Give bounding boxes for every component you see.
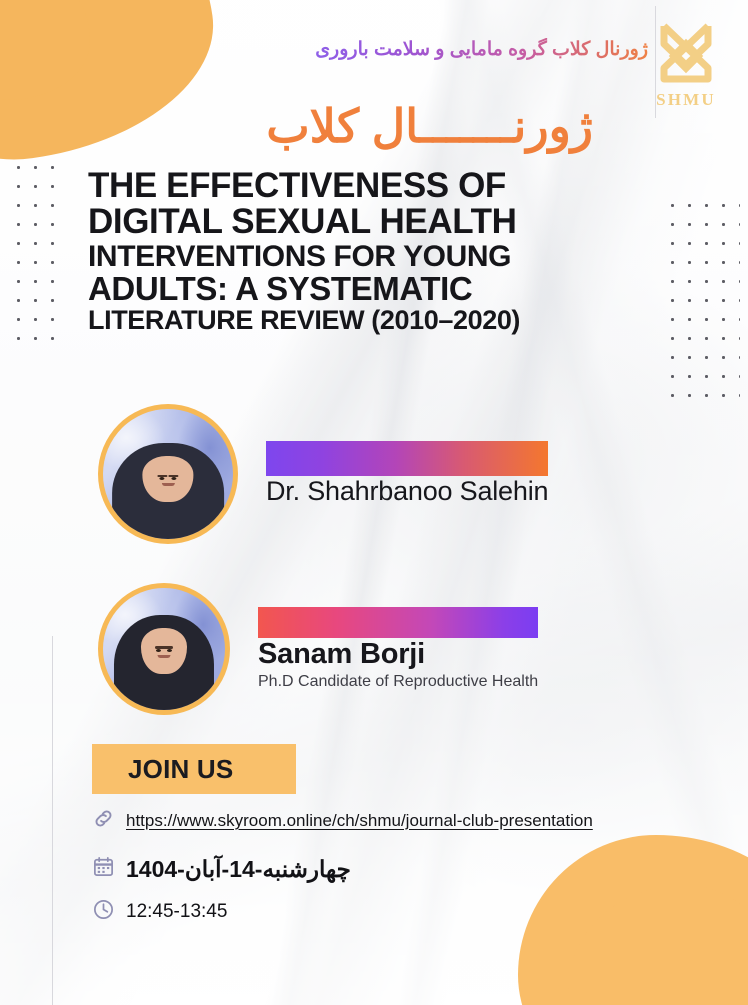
supervisor-avatar	[98, 404, 238, 544]
presenter-text: PRESENTER Sanam Borji Ph.D Candidate of …	[258, 607, 538, 692]
presenter-role-label: PRESENTER	[258, 607, 538, 639]
calendar-icon	[92, 855, 115, 883]
title-line-1: THE EFFECTIVENESS OF	[88, 168, 628, 204]
title-line-4: ADULTS: A SYSTEMATIC	[88, 272, 628, 306]
event-date-row: چهارشنبه-14-آبان-1404	[92, 855, 351, 883]
left-divider	[52, 636, 53, 1005]
title-line-3: INTERVENTIONS FOR YOUNG	[88, 241, 628, 272]
supervisor-text: SUPERVISOR Dr. Shahrbanoo Salehin	[266, 441, 548, 506]
event-date: چهارشنبه-14-آبان-1404	[126, 856, 351, 883]
dot-grid-right	[664, 196, 740, 411]
presenter-subtitle: Ph.D Candidate of Reproductive Health	[258, 673, 538, 691]
title-line-2: DIGITAL SEXUAL HEALTH	[88, 204, 628, 240]
meeting-link[interactable]: https://www.skyroom.online/ch/shmu/journ…	[126, 811, 593, 831]
persian-display-title: ژورنـــــــال کلاب	[266, 103, 593, 149]
dot-grid-left	[10, 158, 66, 354]
shmu-logo-text: SHMU	[656, 90, 716, 110]
presenter-block: PRESENTER Sanam Borji Ph.D Candidate of …	[98, 583, 538, 715]
event-time: 12:45-13:45	[126, 901, 227, 923]
shmu-logo: SHMU	[642, 16, 730, 112]
link-chain-icon	[92, 807, 115, 835]
clock-icon	[92, 898, 115, 926]
supervisor-name: Dr. Shahrbanoo Salehin	[266, 476, 548, 507]
supervisor-role-label: SUPERVISOR	[266, 441, 548, 475]
page-title: THE EFFECTIVENESS OF DIGITAL SEXUAL HEAL…	[88, 168, 628, 334]
poster-root: SHMU ژورنال کلاب گروه مامایی و سلامت بار…	[0, 0, 748, 1005]
presenter-name: Sanam Borji	[258, 638, 538, 671]
join-us-button[interactable]: JOIN US	[92, 744, 296, 794]
shmu-knot-logo-icon	[651, 16, 721, 88]
meeting-link-row[interactable]: https://www.skyroom.online/ch/shmu/journ…	[92, 807, 593, 835]
presenter-avatar	[98, 583, 230, 715]
title-line-5: LITERATURE REVIEW (2010–2020)	[88, 306, 628, 334]
supervisor-block: SUPERVISOR Dr. Shahrbanoo Salehin	[98, 404, 548, 544]
persian-header-line: ژورنال کلاب گروه مامایی و سلامت باروری	[315, 38, 648, 61]
event-time-row: 12:45-13:45	[92, 898, 227, 926]
